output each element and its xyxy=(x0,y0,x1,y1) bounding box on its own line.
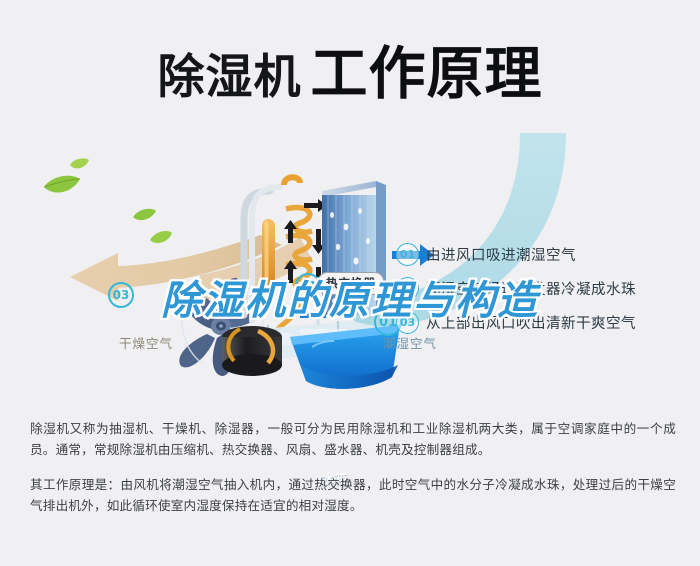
label-dry-air: 干燥空气 xyxy=(119,333,173,352)
body-copy: 除湿机又称为抽湿机、干燥机、除湿器，一般可分为民用除湿机和工业除湿机两大类，属于… xyxy=(30,418,676,523)
page-title-part2: 工作原理 xyxy=(311,41,543,107)
legend-text: 由进风口吸进潮湿空气 xyxy=(426,244,576,265)
watermark-overlay: 除湿机的原理与构造 xyxy=(0,268,700,326)
body-paragraph-1: 除湿机又称为抽湿机、干燥机、除湿器，一般可分为民用除湿机和工业除湿机两大类，属于… xyxy=(30,418,676,460)
legend-number: 01 xyxy=(396,243,419,266)
page-title: 除湿机工作原理 xyxy=(0,28,700,110)
page-root: 除湿机工作原理 xyxy=(0,0,700,566)
page-title-part1: 除湿机 xyxy=(158,50,302,105)
watermark-text: 除湿机的原理与构造 xyxy=(161,278,539,324)
legend-item: 01 由进风口吸进潮湿空气 xyxy=(396,243,696,265)
body-paragraph-2: 其工作原理是：由风机将潮湿空气抽入机内，通过热交换器，此时空气中的水分子冷凝成水… xyxy=(30,474,676,516)
